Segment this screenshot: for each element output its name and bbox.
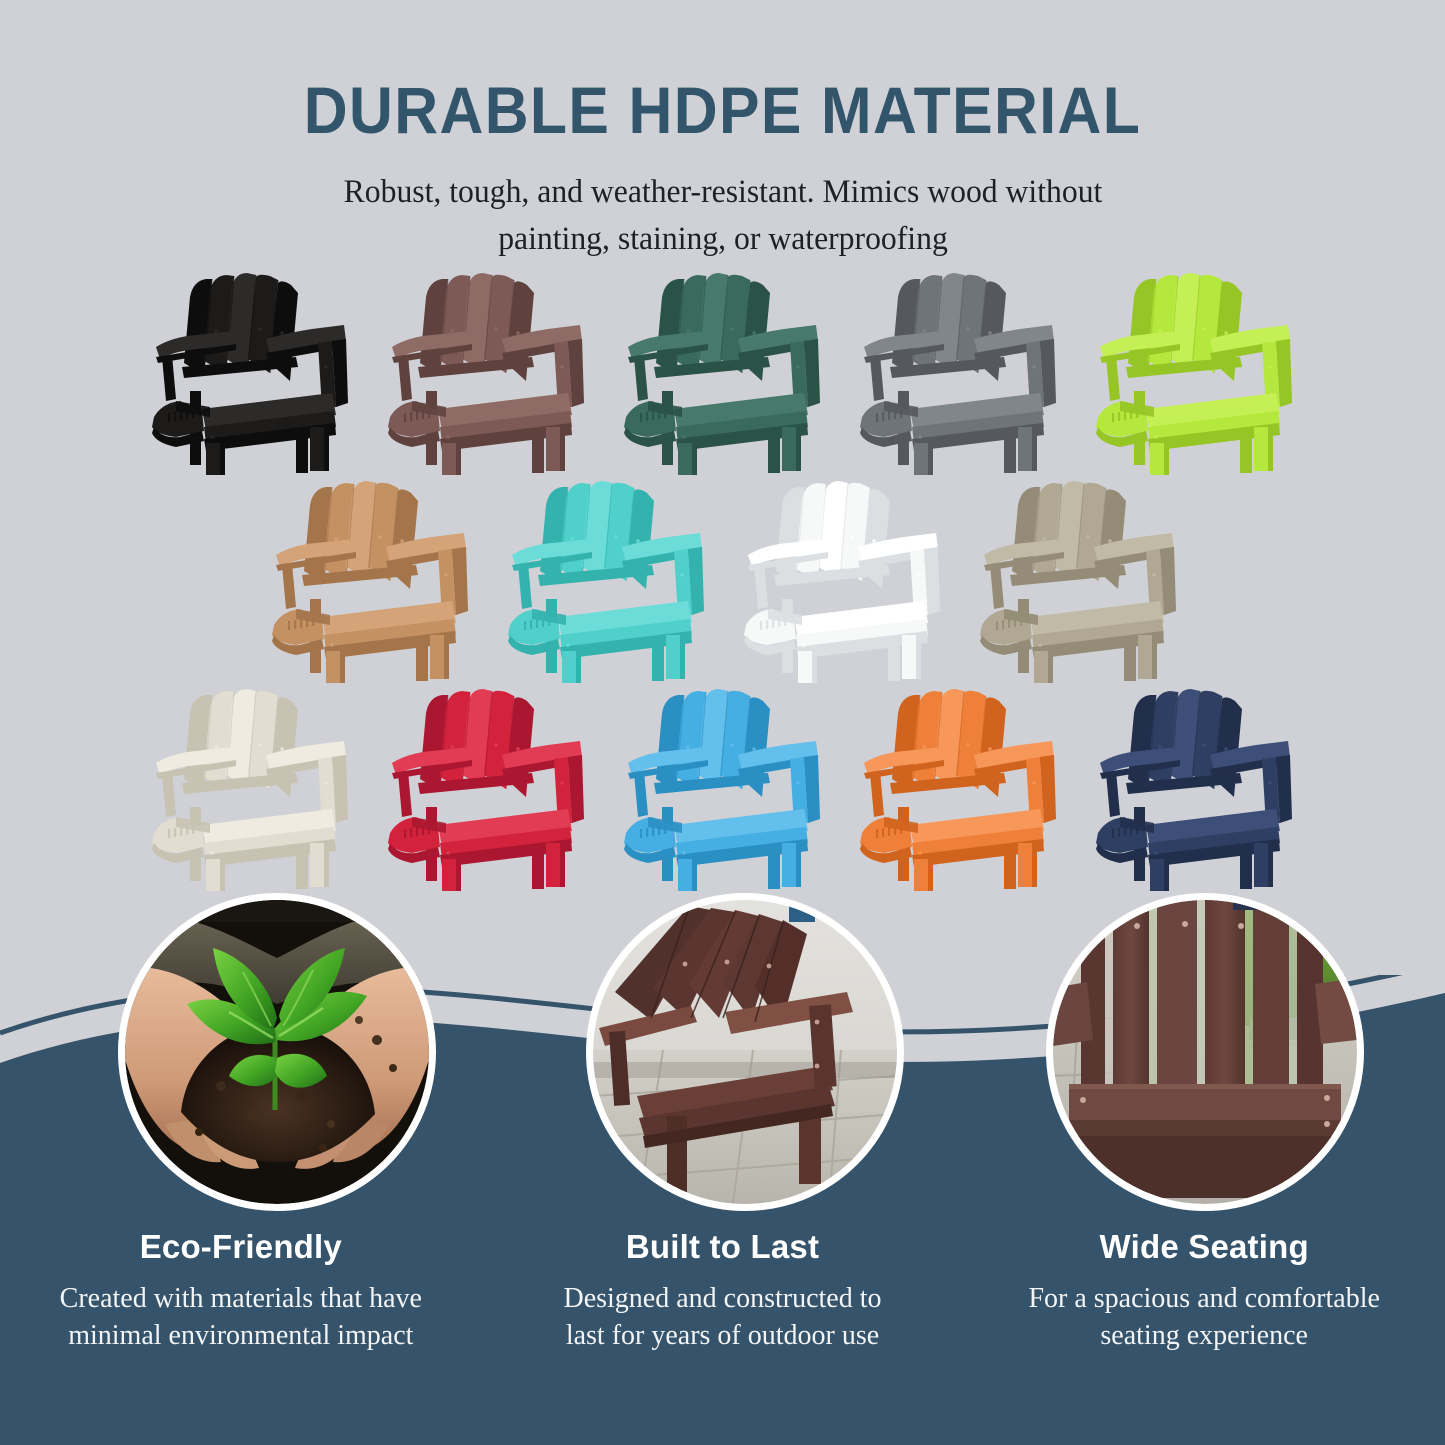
product-infographic-poster: DURABLE HDPE MATERIAL Robust, tough, and…	[0, 0, 1445, 1445]
adirondack-chair-orange	[854, 687, 1064, 892]
adirondack-chair-black	[146, 271, 356, 476]
feature-description: Created with materials that have minimal…	[14, 1280, 468, 1354]
feature-eco-friendly: Eco-Friendly Created with materials that…	[0, 1228, 482, 1354]
chair-swatch-orange[interactable]	[841, 684, 1077, 892]
subtitle-line-2: painting, staining, or waterproofing	[243, 216, 1203, 263]
adirondack-chair-dark-green	[618, 271, 828, 476]
feature-desc-line-1: Designed and constructed to	[563, 1283, 881, 1314]
adirondack-chair-weathered-taupe	[974, 479, 1184, 684]
chair-color-grid	[0, 268, 1445, 892]
adirondack-chair-red	[382, 687, 592, 892]
feature-desc-line-1: Created with materials that have	[60, 1283, 422, 1314]
chair-swatch-black[interactable]	[133, 268, 369, 476]
feature-desc-line-1: For a spacious and comfortable	[1028, 1283, 1379, 1314]
chair-swatch-red[interactable]	[369, 684, 605, 892]
feature-title: Eco-Friendly	[14, 1228, 468, 1266]
feature-desc-line-2: minimal environmental impact	[68, 1320, 413, 1351]
adirondack-chair-white	[738, 479, 948, 684]
chair-row-3	[0, 684, 1445, 892]
header: DURABLE HDPE MATERIAL Robust, tough, and…	[0, 0, 1445, 263]
chair-swatch-weathered-taupe[interactable]	[961, 476, 1197, 684]
adirondack-chair-navy-blue	[1090, 687, 1300, 892]
subtitle-line-1: Robust, tough, and weather-resistant. Mi…	[243, 169, 1203, 216]
chair-swatch-lime-green[interactable]	[1077, 268, 1313, 476]
chair-swatch-navy-blue[interactable]	[1077, 684, 1313, 892]
feature-desc-line-2: last for years of outdoor use	[566, 1320, 879, 1351]
adirondack-chair-teak-tan	[266, 479, 476, 684]
chair-swatch-dark-green[interactable]	[605, 268, 841, 476]
chair-swatch-brown[interactable]	[369, 268, 605, 476]
feature-captions: Eco-Friendly Created with materials that…	[0, 1228, 1445, 1354]
feature-circle-eco-friendly	[118, 893, 436, 1211]
feature-desc-line-2: seating experience	[1100, 1320, 1308, 1351]
chair-row-2	[0, 476, 1445, 684]
adirondack-chair-brown	[382, 271, 592, 476]
feature-wide-seating: Wide Seating For a spacious and comforta…	[963, 1228, 1445, 1354]
adirondack-chair-light-blue	[618, 687, 828, 892]
feature-circle-wide-seating	[1046, 893, 1364, 1211]
chair-swatch-teak-tan[interactable]	[253, 476, 489, 684]
chair-swatch-light-blue[interactable]	[605, 684, 841, 892]
chair-swatch-turquoise[interactable]	[489, 476, 725, 684]
adirondack-chair-turquoise	[502, 479, 712, 684]
feature-title: Wide Seating	[977, 1228, 1431, 1266]
page-title: DURABLE HDPE MATERIAL	[58, 0, 1387, 145]
chair-swatch-ivory-cream[interactable]	[133, 684, 369, 892]
page-subtitle: Robust, tough, and weather-resistant. Mi…	[243, 145, 1203, 263]
feature-title: Built to Last	[496, 1228, 950, 1266]
adirondack-chair-gray	[854, 271, 1064, 476]
feature-circle-built-to-last	[586, 893, 904, 1211]
chair-swatch-gray[interactable]	[841, 268, 1077, 476]
adirondack-chair-lime-green	[1090, 271, 1300, 476]
feature-description: Designed and constructed to last for yea…	[496, 1280, 950, 1354]
chair-swatch-white[interactable]	[725, 476, 961, 684]
feature-description: For a spacious and comfortable seating e…	[977, 1280, 1431, 1354]
feature-built-to-last: Built to Last Designed and constructed t…	[482, 1228, 964, 1354]
adirondack-chair-ivory-cream	[146, 687, 356, 892]
brown-chair-on-patio-photo	[593, 900, 897, 1204]
hands-holding-seedling-photo	[125, 900, 429, 1204]
chair-row-1	[0, 268, 1445, 476]
wide-seat-closeup-photo	[1053, 900, 1357, 1204]
feature-image-circles	[0, 893, 1445, 1223]
